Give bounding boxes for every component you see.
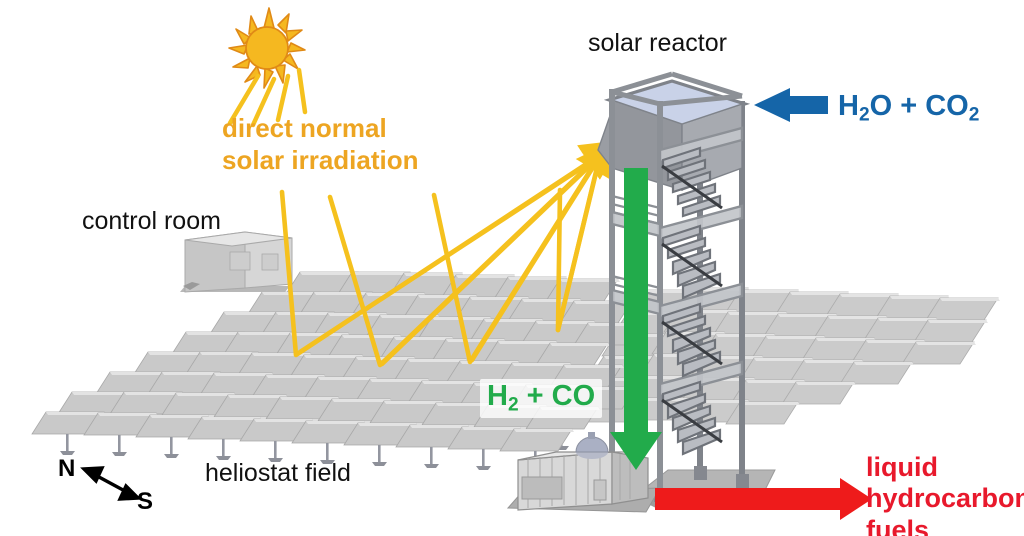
product-line-1: liquid <box>866 452 1024 483</box>
label-direct-normal-solar-irradiation: direct normal solar irradiation <box>222 113 419 176</box>
dni-line-2: solar irradiation <box>222 145 419 177</box>
syngas-sub-2: 2 <box>508 394 519 415</box>
compass-rose <box>84 468 138 499</box>
feedstock-arrow <box>754 88 828 122</box>
diagram-canvas: solar reactor control room heliostat fie… <box>0 0 1024 536</box>
product-line-3: fuels <box>866 515 1024 536</box>
label-heliostat-field: heliostat field <box>205 460 351 487</box>
feed-sub-2: 2 <box>859 104 870 125</box>
compass-label-south: S <box>137 489 153 515</box>
product-line-2: hydrocarbon <box>866 483 1024 514</box>
feed-o-plus-co: O + CO <box>870 90 969 122</box>
label-control-room: control room <box>82 208 221 235</box>
product-arrow <box>655 478 872 520</box>
syngas-plus-co: + CO <box>519 380 596 412</box>
compass-label-north: N <box>58 456 75 482</box>
label-liquid-hydrocarbon-fuels: liquid hydrocarbon fuels <box>866 452 1024 536</box>
syngas-arrow <box>610 168 662 470</box>
label-feedstock: H2O + CO2 <box>838 91 979 126</box>
label-syngas: H2 + CO <box>480 379 602 418</box>
feed-sub-2b: 2 <box>969 104 980 125</box>
syngas-h: H <box>487 380 508 412</box>
feed-h: H <box>838 90 859 122</box>
label-solar-reactor: solar reactor <box>588 30 727 57</box>
dni-line-1: direct normal <box>222 113 419 145</box>
